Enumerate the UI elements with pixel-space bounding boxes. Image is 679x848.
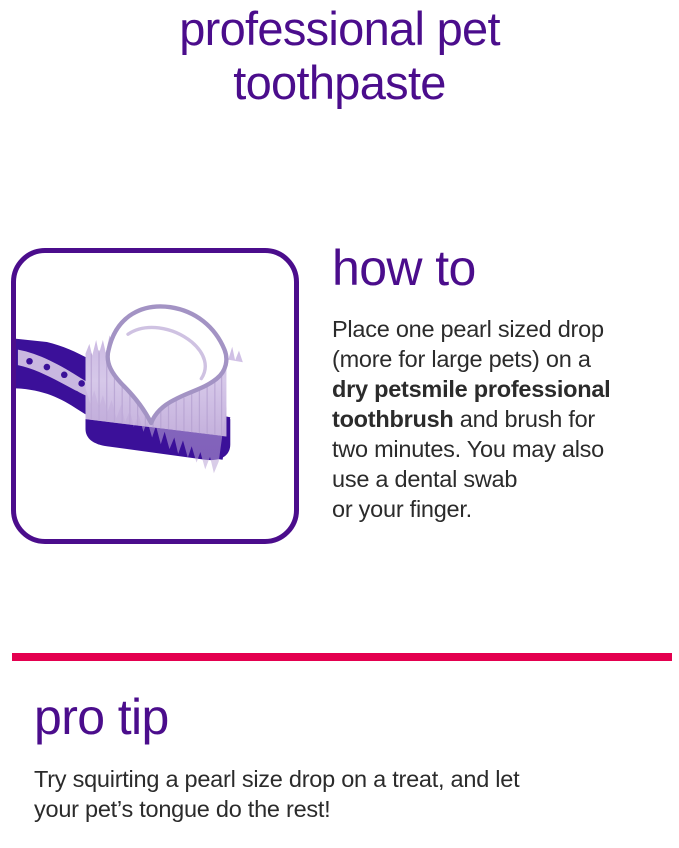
how-to-line-1: Place one pearl sized drop: [332, 316, 604, 342]
toothbrush-with-paste-icon: [16, 253, 294, 539]
how-to-paragraph: Place one pearl sized drop (more for lar…: [332, 314, 662, 524]
how-to-line-5: use a dental swab: [332, 466, 517, 492]
toothbrush-illustration-frame: [11, 248, 299, 544]
how-to-line-4: two minutes. You may also: [332, 436, 604, 462]
pro-tip-section: pro tip Try squirting a pearl size drop …: [34, 688, 654, 824]
pro-tip-text: Try squirting a pearl size drop on a tre…: [34, 764, 654, 824]
how-to-line-3: and brush for: [454, 406, 596, 432]
how-to-line-2: (more for large pets) on a: [332, 346, 591, 372]
page-title: professional pet toothpaste: [0, 2, 679, 110]
how-to-text-block: how to Place one pearl sized drop (more …: [332, 240, 662, 524]
how-to-line-6: or your finger.: [332, 496, 472, 522]
how-to-heading: how to: [332, 240, 662, 296]
pro-tip-heading: pro tip: [34, 688, 654, 746]
how-to-section: how to Place one pearl sized drop (more …: [0, 240, 679, 560]
section-divider: [12, 653, 672, 661]
page-root: professional pet toothpaste: [0, 0, 679, 848]
